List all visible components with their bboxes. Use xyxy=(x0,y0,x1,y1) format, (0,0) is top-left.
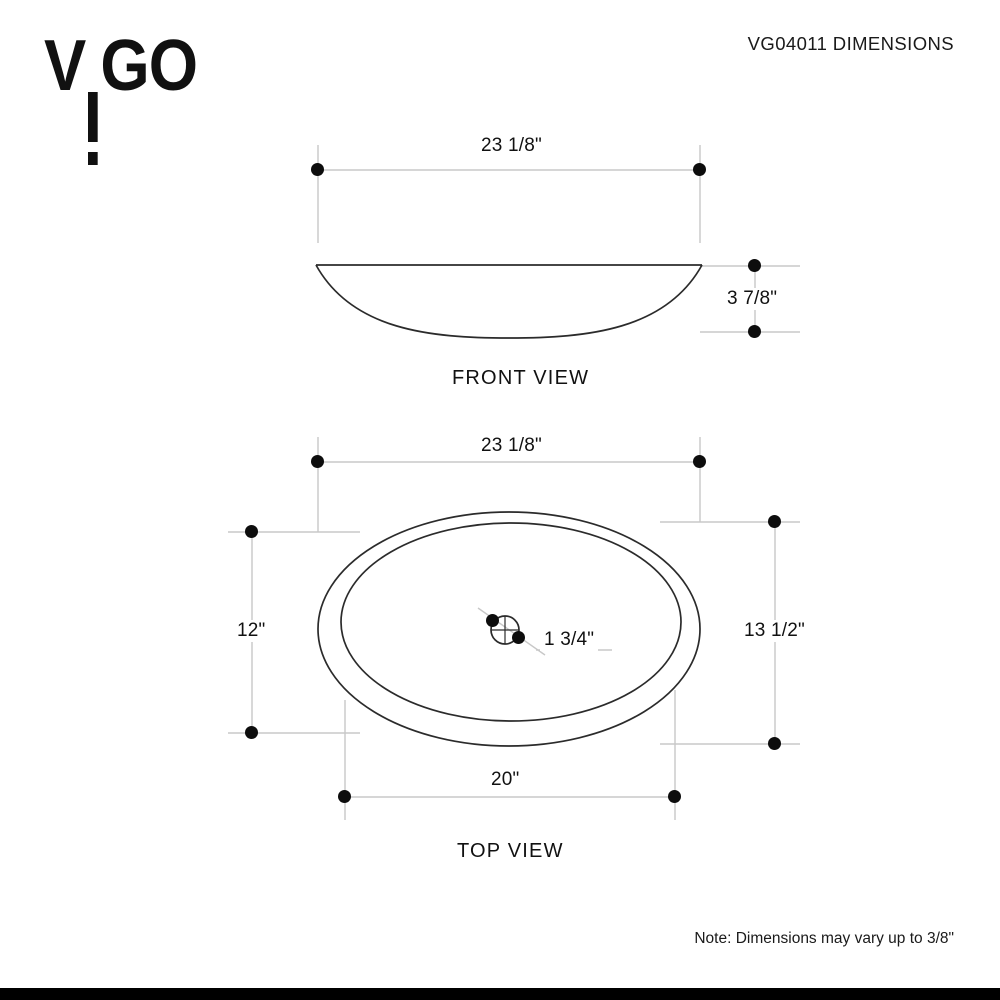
front-height-dimension-label: 3 7/8" xyxy=(723,288,781,310)
vigo-logo-i-bar xyxy=(88,92,98,142)
top-view-guides xyxy=(228,437,800,820)
bottom-bar xyxy=(0,988,1000,1000)
vigo-logo-v: V xyxy=(44,26,85,106)
dim-endpoint-dot-outer-depth-bottom xyxy=(768,737,781,750)
top-view-label: TOP VIEW xyxy=(457,840,564,863)
dim-endpoint-dot-top-width-right xyxy=(693,455,706,468)
basin-inner-bowl-ellipse xyxy=(341,523,681,721)
vigo-logo-i-dot xyxy=(88,152,98,165)
dimension-tolerance-note: Note: Dimensions may vary up to 3/8" xyxy=(694,930,954,948)
basin-outer-rim-ellipse xyxy=(318,512,700,746)
dim-endpoint-dot-outer-depth-top xyxy=(768,515,781,528)
dim-endpoint-dot-inner-depth-top xyxy=(245,525,258,538)
front-view-bowl-profile xyxy=(316,265,702,338)
vigo-logo-go: GO xyxy=(100,26,197,106)
drain-dimension-label: 1 3/4" xyxy=(540,629,598,651)
front-view-label: FRONT VIEW xyxy=(452,367,589,390)
front-width-dimension-label: 23 1/8" xyxy=(477,135,546,157)
inner-depth-dimension-label: 12" xyxy=(233,620,269,642)
drawing-canvas: VGO VG04011 DIMENSIONS xyxy=(0,0,1000,1000)
inner-width-dimension-label: 20" xyxy=(487,769,523,791)
dim-endpoint-dot-inner-width-left xyxy=(338,790,351,803)
dim-endpoint-dot-front-height-top xyxy=(748,259,761,272)
dim-endpoint-dot-drain-upper xyxy=(486,614,499,627)
page-title: VG04011 DIMENSIONS xyxy=(748,33,954,55)
dim-endpoint-dot-top-width-left xyxy=(311,455,324,468)
top-view-basin xyxy=(318,512,700,746)
dim-endpoint-dot-inner-depth-bottom xyxy=(245,726,258,739)
top-width-dimension-label: 23 1/8" xyxy=(477,435,546,457)
vigo-logo-wordmark: VGO xyxy=(44,30,185,102)
vigo-logo: VGO xyxy=(44,30,204,120)
dim-endpoint-dot-drain-lower xyxy=(512,631,525,644)
outer-depth-dimension-label: 13 1/2" xyxy=(740,620,809,642)
dim-endpoint-dot-front-height-bottom xyxy=(748,325,761,338)
dim-endpoint-dot-front-width-left xyxy=(311,163,324,176)
dim-endpoint-dot-inner-width-right xyxy=(668,790,681,803)
dim-endpoint-dot-front-width-right xyxy=(693,163,706,176)
